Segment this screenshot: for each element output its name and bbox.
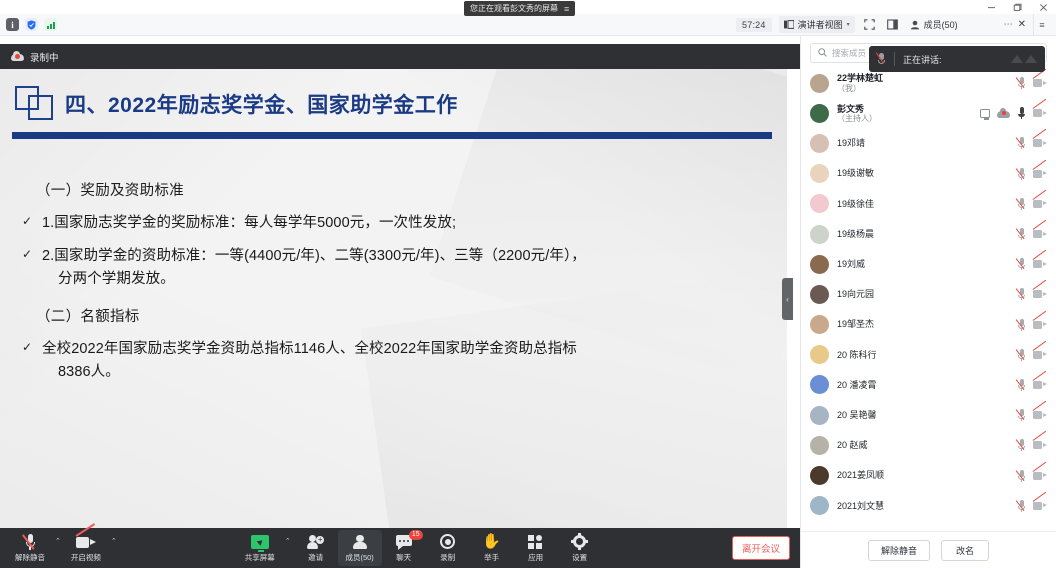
raise-hand-icon: ✋ [482, 533, 501, 550]
apps-icon [528, 533, 543, 550]
tooltip-menu-icon[interactable]: ≡ [564, 4, 569, 14]
participant-row[interactable]: 2021姜凤顺 [801, 460, 1056, 490]
participant-name: 2021姜凤顺 [837, 470, 1009, 480]
avatar [810, 255, 829, 274]
participant-icons [1017, 137, 1047, 149]
close-button[interactable] [1030, 0, 1056, 14]
participant-role: （主持人） [837, 114, 972, 123]
camera-off-icon[interactable] [1033, 229, 1047, 239]
participant-icons [1017, 379, 1047, 391]
mic-muted-icon[interactable] [1017, 77, 1026, 89]
participant-name: 2021刘文慧 [837, 501, 1009, 511]
members-count-label: 成员(50) [924, 18, 958, 31]
hamburger-menu-icon[interactable]: ≡ [1033, 14, 1050, 36]
participant-row[interactable]: 20 吴艳馨 [801, 400, 1056, 430]
participant-name: 20 潘凌霄 [837, 380, 1009, 390]
participant-row[interactable]: 22学林楚虹（我） [801, 68, 1056, 98]
toolbar-button-label: 举手 [484, 552, 499, 563]
bullet-text: 全校2022年国家励志奖学金资助总指标1146人、全校2022年国家助学金资助总… [42, 338, 577, 383]
view-mode-label: 演讲者视图 [798, 18, 843, 31]
avatar [810, 74, 829, 93]
toolbar-button-apps[interactable]: 应用 [514, 528, 558, 568]
camera-off-icon[interactable] [1033, 380, 1047, 390]
squares-logo-icon [15, 86, 55, 122]
participant-icons [1017, 470, 1047, 482]
chevron-up-icon[interactable]: ⌃ [108, 537, 120, 545]
participant-name-block: 22学林楚虹（我） [837, 73, 1009, 93]
screen-share-tooltip: 您正在观看彭文秀的屏幕 ≡ [464, 1, 575, 16]
slide-bullet: ✓ 1.国家励志奖学金的奖励标准：每人每学年5000元，一次性发放; [22, 212, 772, 234]
share-screen-icon [251, 533, 269, 550]
shared-screen-slide: 四、2022年励志奖学金、国家助学金工作 （一）奖励及资助标准 ✓ 1.国家励志… [0, 69, 787, 528]
participant-row[interactable]: 彭文秀（主持人） [801, 98, 1056, 128]
minimize-button[interactable] [978, 0, 1004, 14]
more-options-icon[interactable]: ⋯ [1004, 19, 1014, 30]
mic-muted-icon[interactable] [1017, 168, 1026, 180]
mic-muted-icon[interactable] [1017, 258, 1026, 270]
participant-icons [1017, 500, 1047, 512]
camera-off-icon[interactable] [1033, 259, 1047, 269]
toolbar-button-share-screen[interactable]: 共享屏幕 [238, 528, 282, 568]
participant-icons [980, 107, 1047, 119]
participant-row[interactable]: 19邹圣杰 [801, 310, 1056, 340]
toolbar-button-participants[interactable]: 成员(50) [338, 530, 382, 566]
leave-meeting-button[interactable]: 离开会议 [732, 536, 790, 560]
participant-name: 19级徐佳 [837, 199, 1009, 209]
participant-name-block: 19级徐佳 [837, 199, 1009, 209]
camera-off-icon[interactable] [1033, 350, 1047, 360]
top-left-status-icons: i [0, 18, 57, 31]
participant-icons [1017, 228, 1047, 240]
mic-muted-icon [877, 53, 886, 66]
panel-header-members: 成员(50) ⋯ ✕ [908, 18, 1026, 31]
search-icon [818, 48, 827, 59]
participant-icons [1017, 349, 1047, 361]
mic-muted-icon[interactable] [1017, 470, 1026, 482]
section-heading-1: （一）奖励及资助标准 [36, 179, 772, 200]
mic-muted-icon[interactable] [1017, 288, 1026, 300]
slide-header: 四、2022年励志奖学金、国家助学金工作 [15, 86, 458, 122]
participant-row[interactable]: 20 陈科行 [801, 340, 1056, 370]
participant-name: 20 吴艳馨 [837, 410, 1009, 420]
avatar [810, 496, 829, 515]
participant-name-block: 19刘威 [837, 259, 1009, 269]
participant-name-block: 19邹圣杰 [837, 319, 1009, 329]
person-icon [910, 20, 920, 30]
bullet-text: 2.国家助学金的资助标准：一等(4400元/年)、二等(3300元/年)、三等（… [42, 245, 586, 290]
search-placeholder: 搜索成员 [832, 47, 866, 59]
recording-label: 录制中 [30, 50, 59, 64]
split-view-icon[interactable] [885, 17, 901, 32]
toolbar-button-camera-off[interactable]: 开启视频 [64, 528, 108, 568]
chevron-up-icon[interactable]: ⌃ [282, 537, 294, 545]
cloud-record-icon [997, 109, 1010, 118]
view-mode-selector[interactable]: 演讲者视图 ▾ [779, 16, 855, 33]
participant-name-block: 19级杨晨 [837, 229, 1009, 239]
camera-off-icon[interactable] [1033, 138, 1047, 148]
mic-muted-icon[interactable] [1017, 379, 1026, 391]
recording-status-bar: 录制中 [0, 44, 800, 69]
bullet-text: 1.国家励志奖学金的奖励标准：每人每学年5000元，一次性发放; [42, 212, 456, 234]
avatar [810, 436, 829, 455]
toolbar-button-label: 聊天 [396, 552, 411, 563]
bullet-line-1: 2.国家助学金的资助标准：一等(4400元/年)、二等(3300元/年)、三等（… [42, 248, 586, 264]
avatar [810, 134, 829, 153]
bullet-line-2: 8386人。 [58, 361, 577, 383]
chevron-up-icon[interactable]: ⌃ [52, 537, 64, 545]
unread-badge: 15 [409, 530, 423, 540]
participant-icons [1017, 258, 1047, 270]
camera-off-icon[interactable] [1033, 289, 1047, 299]
participant-name: 19级杨晨 [837, 229, 1009, 239]
participant-row[interactable]: 19向元园 [801, 279, 1056, 309]
participant-name-block: 19向元园 [837, 289, 1009, 299]
participant-icons [1017, 77, 1047, 89]
slide-title: 四、2022年励志奖学金、国家助学金工作 [65, 89, 458, 119]
toolbar-button-invite[interactable]: +邀请 [294, 528, 338, 568]
camera-off-icon[interactable] [1033, 108, 1047, 118]
network-signal-icon[interactable] [44, 18, 57, 31]
toolbar-button-label: 应用 [528, 552, 543, 563]
divider [894, 52, 895, 66]
toolbar-button-label: 成员(50) [345, 552, 373, 563]
participant-name: 19邓靖 [837, 138, 1009, 148]
participant-name-block: 20 潘凌霄 [837, 380, 1009, 390]
toolbar-button-record[interactable]: 录制 [426, 528, 470, 568]
mic-muted-icon[interactable] [1017, 137, 1026, 149]
participant-row[interactable]: 20 潘凌霄 [801, 370, 1056, 400]
participant-name: 19向元园 [837, 289, 1009, 299]
maximize-restore-button[interactable] [1004, 0, 1030, 14]
participant-row[interactable]: 19级谢敏 [801, 159, 1056, 189]
avatar [810, 345, 829, 364]
participant-name-block: 20 吴艳馨 [837, 410, 1009, 420]
toolbar-button-label: 解除静音 [15, 552, 45, 563]
camera-off-icon[interactable] [1033, 320, 1047, 330]
avatar [810, 164, 829, 183]
participant-name: 20 陈科行 [837, 350, 1009, 360]
speaker-view-icon [784, 20, 794, 29]
screen-share-icon [980, 109, 990, 118]
panel-close-icon[interactable]: ✕ [1018, 19, 1026, 30]
participants-list[interactable]: 22学林楚虹（我）彭文秀（主持人）19邓靖19级谢敏19级徐佳19级杨晨19刘威… [801, 68, 1056, 531]
title-underline-rule [12, 132, 772, 139]
participant-name-block: 19级谢敏 [837, 168, 1009, 178]
avatar [810, 285, 829, 304]
toolbar-button-raise-hand[interactable]: ✋举手 [470, 528, 514, 568]
mic-muted-icon[interactable] [1017, 198, 1026, 210]
mic-on-icon[interactable] [1017, 107, 1026, 119]
toolbar-button-label: 开启视频 [71, 552, 101, 563]
toolbar-button-label: 设置 [572, 552, 587, 563]
participant-name: 彭文秀 [837, 104, 972, 114]
participants-panel: 搜索成员 正在讲话: 22学林楚虹（我）彭文秀（主持人）19邓靖19级谢敏19级… [800, 36, 1056, 568]
participant-role: （我） [837, 84, 1009, 93]
participant-name: 19级谢敏 [837, 168, 1009, 178]
toolbar-button-label: 录制 [440, 552, 455, 563]
participants-footer: 解除静音 改名 [801, 531, 1056, 568]
mic-muted-icon[interactable] [1017, 409, 1026, 421]
camera-off-icon[interactable] [1033, 78, 1047, 88]
zoom-meeting-window: 您正在观看彭文秀的屏幕 ≡ i 57:24 演讲者视图 ▾ [0, 0, 1056, 568]
toolbar-button-mic-muted[interactable]: 解除静音 [8, 528, 52, 568]
bullet-line-1: 全校2022年国家励志奖学金资助总指标1146人、全校2022年国家助学金资助总… [42, 341, 577, 357]
participant-row[interactable]: 19级徐佳 [801, 189, 1056, 219]
participants-icon [352, 533, 367, 550]
mic-muted-icon[interactable] [1017, 349, 1026, 361]
participant-name-block: 20 陈科行 [837, 350, 1009, 360]
info-icon[interactable]: i [6, 18, 19, 31]
rename-button[interactable]: 改名 [941, 540, 989, 561]
participant-row[interactable]: 19邓靖 [801, 128, 1056, 158]
avatar [810, 225, 829, 244]
slide-body: （一）奖励及资助标准 ✓ 1.国家励志奖学金的奖励标准：每人每学年5000元，一… [22, 179, 772, 394]
camera-off-icon [76, 533, 96, 550]
participant-icons [1017, 288, 1047, 300]
avatar [810, 375, 829, 394]
toolbar-button-label: 邀请 [308, 552, 323, 563]
top-right-controls: 57:24 演讲者视图 ▾ 成员(50) ⋯ ✕ ≡ [736, 14, 1056, 36]
camera-off-icon[interactable] [1033, 199, 1047, 209]
participant-name-block: 20 赵威 [837, 440, 1009, 450]
participant-icons [1017, 168, 1047, 180]
mic-muted-icon[interactable] [1017, 439, 1026, 451]
toolbar-button-label: 共享屏幕 [245, 552, 275, 563]
participant-icons [1017, 198, 1047, 210]
camera-off-icon[interactable] [1033, 501, 1047, 511]
camera-off-icon[interactable] [1033, 471, 1047, 481]
settings-icon [572, 533, 587, 550]
mic-muted-icon[interactable] [1017, 500, 1026, 512]
invite-icon: + [307, 533, 324, 550]
check-icon: ✓ [22, 212, 33, 231]
slide-bullet: ✓ 2.国家助学金的资助标准：一等(4400元/年)、二等(3300元/年)、三… [22, 245, 772, 290]
cloud-record-icon [11, 52, 24, 61]
fullscreen-icon[interactable] [862, 17, 878, 32]
unmute-all-button[interactable]: 解除静音 [868, 540, 930, 561]
check-icon: ✓ [22, 245, 33, 264]
participant-name: 19邹圣杰 [837, 319, 1009, 329]
participant-name-block: 2021刘文慧 [837, 501, 1009, 511]
participant-icons [1017, 319, 1047, 331]
avatar [810, 194, 829, 213]
participant-name-block: 19邓靖 [837, 138, 1009, 148]
camera-off-icon[interactable] [1033, 169, 1047, 179]
participant-row[interactable]: 20 赵威 [801, 430, 1056, 460]
participant-icons [1017, 409, 1047, 421]
now-speaking-tooltip: 正在讲话: [869, 46, 1045, 72]
camera-off-icon[interactable] [1033, 440, 1047, 450]
chevron-down-icon: ▾ [847, 21, 850, 28]
toolbar-button-chat[interactable]: 聊天15 [382, 528, 426, 568]
participant-row[interactable]: 19刘威 [801, 249, 1056, 279]
avatar [810, 315, 829, 334]
participant-icons [1017, 439, 1047, 451]
participant-name-block: 2021姜凤顺 [837, 470, 1009, 480]
toolbar-button-settings[interactable]: 设置 [558, 528, 602, 568]
avatar [810, 104, 829, 123]
slide-bullet: ✓ 全校2022年国家励志奖学金资助总指标1146人、全校2022年国家助学金资… [22, 338, 772, 383]
audio-wave-icon [1011, 55, 1037, 63]
panel-collapse-handle[interactable]: ‹ [782, 278, 793, 320]
record-icon [440, 533, 455, 550]
participant-name-block: 彭文秀（主持人） [837, 104, 972, 124]
mic-muted-icon [24, 533, 36, 550]
mic-muted-icon[interactable] [1017, 228, 1026, 240]
shield-icon[interactable] [25, 18, 38, 31]
participant-name: 19刘威 [837, 259, 1009, 269]
participant-row[interactable]: 19级杨晨 [801, 219, 1056, 249]
participant-name: 22学林楚虹 [837, 73, 1009, 83]
bullet-line-2: 分两个学期发放。 [58, 268, 586, 290]
section-heading-2: （二）名额指标 [36, 305, 772, 326]
meeting-timer: 57:24 [736, 18, 772, 32]
avatar [810, 406, 829, 425]
check-icon: ✓ [22, 338, 33, 357]
now-speaking-label: 正在讲话: [903, 53, 942, 66]
meeting-toolbar: 解除静音⌃开启视频⌃共享屏幕⌃+邀请成员(50)聊天15录制✋举手应用设置离开会… [0, 528, 800, 568]
participant-name: 20 赵威 [837, 440, 1009, 450]
avatar [810, 466, 829, 485]
top-control-strip: i 57:24 演讲者视图 ▾ 成员(50) ⋯ ✕ [0, 14, 1056, 36]
camera-off-icon[interactable] [1033, 410, 1047, 420]
screen-share-tooltip-text: 您正在观看彭文秀的屏幕 [470, 3, 558, 14]
mic-muted-icon[interactable] [1017, 319, 1026, 331]
participant-row[interactable]: 2021刘文慧 [801, 491, 1056, 521]
